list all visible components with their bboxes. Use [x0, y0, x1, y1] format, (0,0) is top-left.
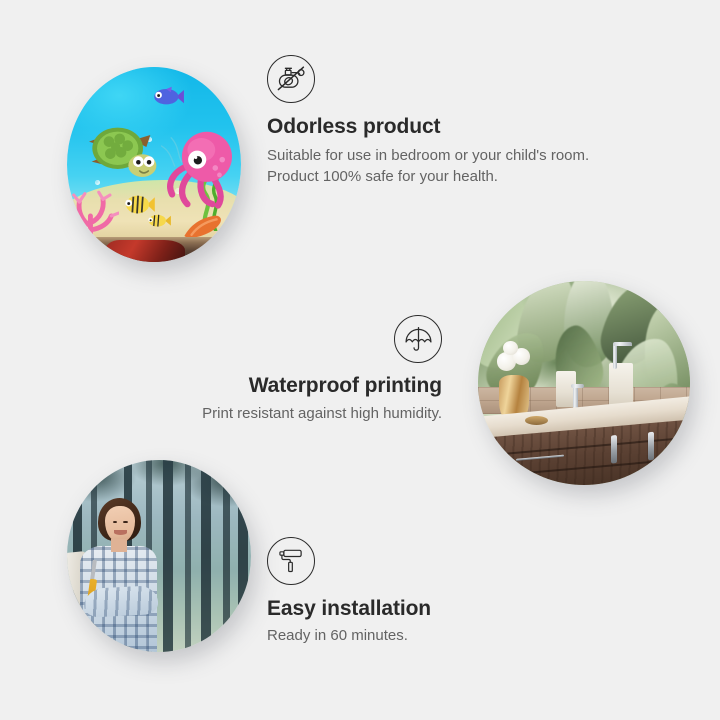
blue-fish-icon — [152, 83, 185, 110]
small-striped-fish-icon — [147, 209, 171, 232]
feature-title: Odorless product — [267, 115, 607, 139]
feature-install: Easy installation Ready in 60 minutes. — [267, 537, 587, 646]
umbrella-icon — [394, 315, 442, 363]
underwater-kids-mural-photo — [67, 67, 241, 262]
strip-highlight — [175, 247, 180, 260]
feature-title: Waterproof printing — [142, 374, 442, 398]
sink-faucet-arm — [571, 384, 584, 388]
soap-dish — [525, 416, 548, 425]
no-odor-perfume-bottle-icon — [267, 55, 315, 103]
feature-title: Easy installation — [267, 597, 587, 621]
woman-neck — [111, 539, 127, 552]
drawer-seam — [486, 436, 690, 457]
bathroom-tropical-wallpaper-photo — [478, 281, 690, 485]
room-photo-strip — [67, 237, 241, 262]
tree-trunk — [238, 460, 248, 652]
feature-description: Print resistant against high humidity. — [142, 403, 442, 424]
eye — [113, 521, 118, 524]
tree-trunk — [201, 460, 210, 652]
feature-description: Ready in 60 minutes. — [267, 625, 587, 646]
drawer-pull-handle — [517, 455, 565, 461]
tree-trunk — [223, 460, 230, 652]
eye — [123, 521, 128, 524]
feature-description: Suitable for use in bedroom or your chil… — [267, 145, 607, 188]
tree-trunk — [163, 460, 173, 652]
feature-waterproof: Waterproof printing Print resistant agai… — [142, 315, 442, 424]
smile — [114, 530, 127, 535]
faucet-riser — [613, 344, 618, 368]
paint-roller-icon — [267, 537, 315, 585]
feature-odorless: Odorless product Suitable for use in bed… — [267, 55, 607, 188]
tree-trunk — [185, 460, 191, 652]
cabinet-pull-handle — [649, 432, 655, 460]
faucet-spout — [613, 342, 632, 346]
woman-folded-arms — [83, 585, 158, 618]
cabinet-pull-handle — [612, 435, 618, 463]
forest-mural-installer-photo — [67, 460, 251, 652]
feature-panel: Odorless product Suitable for use in bed… — [0, 0, 720, 720]
